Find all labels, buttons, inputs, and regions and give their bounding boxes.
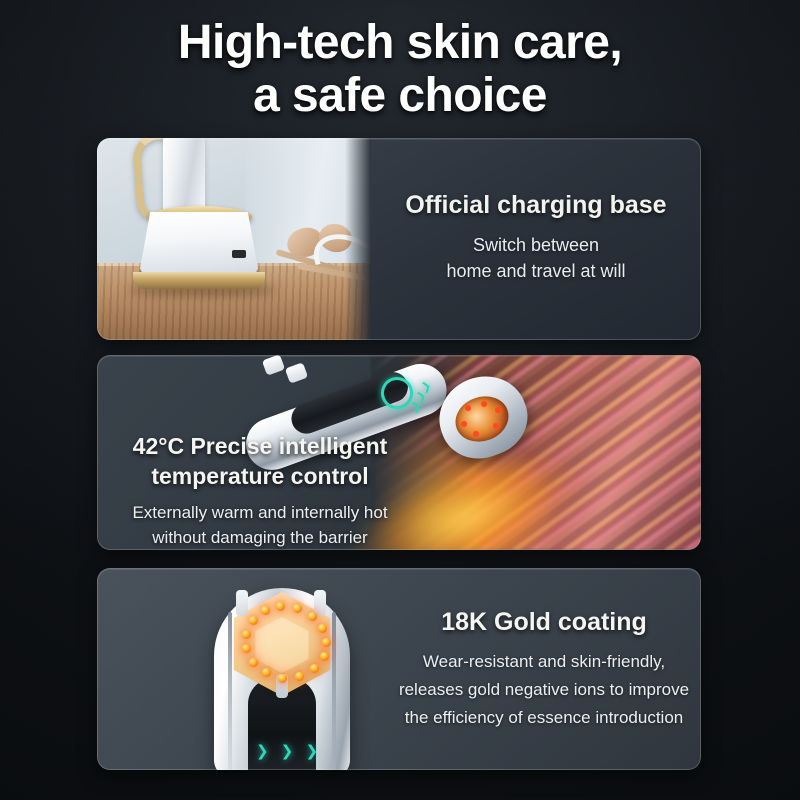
card-1-title: Official charging base [405, 190, 666, 220]
promo-page: High-tech skin care, a safe choice Offic… [0, 0, 800, 800]
gold-led-7 [310, 664, 319, 673]
gold-led-11 [249, 658, 258, 667]
charging-base-photo [97, 138, 371, 340]
gold-led-1 [276, 602, 285, 611]
gold-head-photo: ❯ ❯ ❯ [192, 582, 372, 770]
card-3-subtitle-line-1: Wear-resistant and skin-friendly, [399, 648, 689, 676]
card-2-subtitle-line-2: without damaging the barrier [132, 525, 387, 550]
card-3-subtitle-line-2: releases gold negative ions to improve [399, 676, 689, 704]
gold-led-14 [249, 616, 258, 625]
device-seam-left [228, 612, 232, 770]
usb-port-icon [232, 250, 246, 258]
gold-led-6 [320, 652, 329, 661]
gold-led-12 [242, 644, 251, 653]
card-1-subtitle-line-2: home and travel at will [446, 258, 625, 284]
card-3-text-panel: 18K Gold coating Wear-resistant and skin… [375, 568, 701, 770]
feature-card-charging-base[interactable]: Official charging base Switch between ho… [97, 138, 701, 340]
device-notch-left [236, 590, 248, 616]
charging-base-shell [138, 212, 260, 280]
gold-led-15 [261, 606, 270, 615]
feature-card-temperature-control[interactable]: ❯ ❯ ❯ 42°C Precise intelligent temperatu… [97, 355, 701, 550]
card-2-title: 42°C Precise intelligent temperature con… [133, 431, 388, 491]
feature-card-gold-coating[interactable]: ❯ ❯ ❯ 18K Gold coating Wear-resistant an… [97, 568, 701, 770]
card-2-title-line-2: temperature control [133, 461, 388, 491]
card-3-title: 18K Gold coating [441, 607, 647, 637]
gold-led-2 [293, 604, 302, 613]
gold-led-8 [295, 672, 304, 681]
charging-base-gold-foot [133, 272, 265, 289]
gold-led-5 [322, 638, 331, 647]
card-1-subtitle: Switch between home and travel at will [446, 232, 625, 284]
headline-line-2: a safe choice [0, 69, 800, 122]
card-2-subtitle: Externally warm and internally hot witho… [132, 500, 387, 550]
gold-led-9 [278, 674, 287, 683]
gold-led-4 [318, 624, 327, 633]
card-2-title-line-1: 42°C Precise intelligent [133, 431, 388, 461]
page-title: High-tech skin care, a safe choice [0, 16, 800, 122]
device-notch-right [314, 590, 326, 616]
photo-edge-fade [345, 138, 371, 340]
card-1-text-panel: Official charging base Switch between ho… [371, 138, 701, 340]
device-body [163, 138, 205, 216]
card-2-subtitle-line-1: Externally warm and internally hot [132, 500, 387, 525]
gold-led-13 [242, 630, 251, 639]
device-chevron-indicators: ❯ ❯ ❯ [256, 742, 322, 760]
card-3-subtitle: Wear-resistant and skin-friendly, releas… [399, 648, 689, 732]
card-2-text-panel: 42°C Precise intelligent temperature con… [97, 355, 423, 550]
gold-led-3 [308, 612, 317, 621]
device-seam-right [332, 612, 336, 770]
card-3-subtitle-line-3: the efficiency of essence introduction [399, 704, 689, 732]
card-1-subtitle-line-1: Switch between [446, 232, 625, 258]
gold-led-10 [262, 668, 271, 677]
headline-line-1: High-tech skin care, [178, 16, 622, 69]
